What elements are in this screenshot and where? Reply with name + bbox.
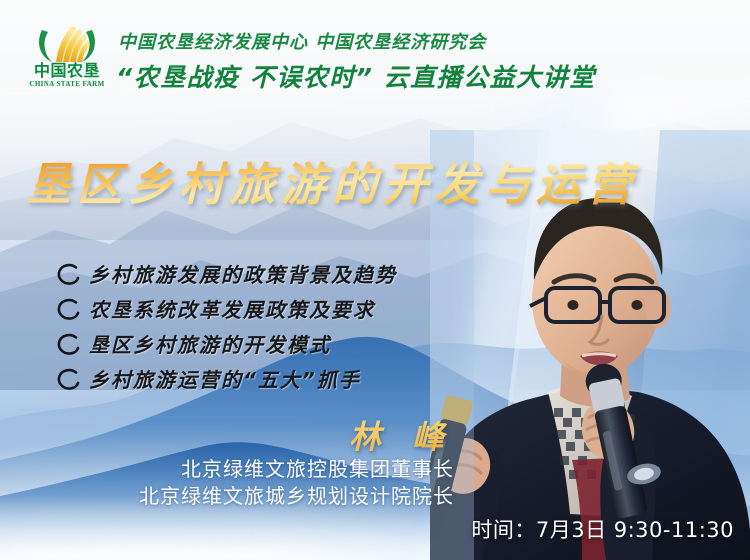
agenda-list: 乡村旅游发展的政策背景及趋势 农垦系统改革发展政策及要求 垦区乡村旅游的开发模式 — [56, 258, 397, 398]
event-time: 时间：7月3日 9:30-11:30 — [471, 514, 734, 544]
list-item-label: 乡村旅游发展的政策背景及趋势 — [89, 259, 397, 288]
list-item-label: 乡村旅游运营的“五大”抓手 — [89, 364, 361, 393]
hand-drawn-circle-icon — [56, 333, 82, 355]
page-title: 垦区乡村旅游的开发与运营 — [26, 148, 638, 213]
list-item: 农垦系统改革发展政策及要求 — [56, 293, 397, 324]
event-series-line: “农垦战疫 不误农时” 云直播公益大讲堂 — [116, 58, 596, 94]
speaker-title-line-1: 北京绿维文旅控股集团董事长 — [139, 456, 454, 483]
list-item-label: 农垦系统改革发展政策及要求 — [89, 294, 375, 323]
list-item: 乡村旅游发展的政策背景及趋势 — [56, 258, 397, 289]
hand-drawn-circle-icon — [56, 298, 82, 320]
header-bar: 中国农垦 CHINA STATE FARM 中国农垦经济发展中心 中国农垦经济研… — [0, 0, 750, 108]
logo-english-text: CHINA STATE FARM — [24, 80, 110, 88]
logo-chinese-text: 中国农垦 — [24, 62, 110, 80]
list-item: 垦区乡村旅游的开发模式 — [56, 328, 397, 359]
china-state-farm-logo-icon — [36, 24, 98, 64]
webinar-poster: 中国农垦 CHINA STATE FARM 中国农垦经济发展中心 中国农垦经济研… — [0, 0, 750, 560]
list-item-label: 垦区乡村旅游的开发模式 — [89, 329, 331, 358]
speaker-name: 林 峰 — [139, 418, 454, 456]
logo: 中国农垦 CHINA STATE FARM — [24, 24, 110, 92]
speaker-block: 林 峰 北京绿维文旅控股集团董事长 北京绿维文旅城乡规划设计院院长 — [139, 418, 454, 510]
list-item: 乡村旅游运营的“五大”抓手 — [56, 363, 397, 394]
organizer-line: 中国农垦经济发展中心 中国农垦经济研究会 — [118, 28, 486, 54]
speaker-title-line-2: 北京绿维文旅城乡规划设计院院长 — [139, 483, 454, 510]
hand-drawn-circle-icon — [56, 263, 82, 285]
hand-drawn-circle-icon — [56, 368, 82, 390]
